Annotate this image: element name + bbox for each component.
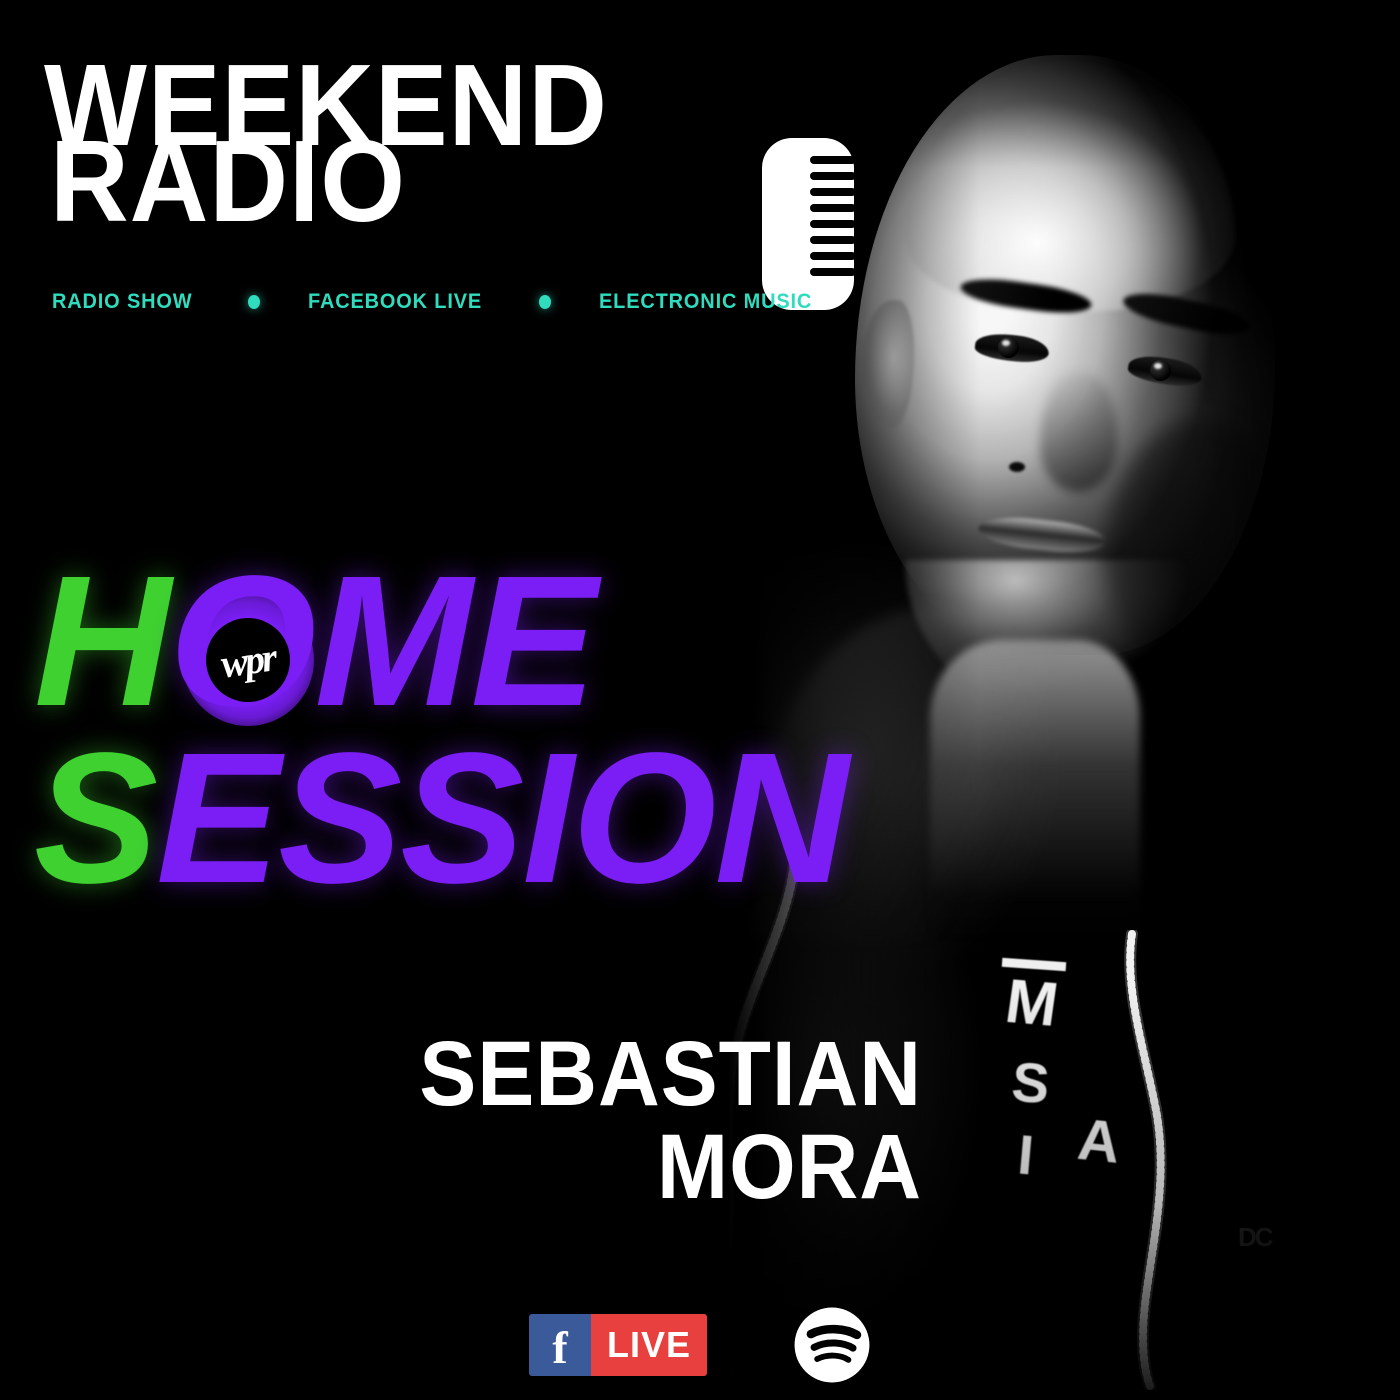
tagline-item-electronic-music: ELECTRONIC MUSIC bbox=[599, 290, 812, 314]
spotify-icon[interactable] bbox=[793, 1306, 871, 1384]
station-logo[interactable]: WEEKEND RADIO bbox=[44, 58, 844, 258]
dc-brand-mark: DC bbox=[1238, 1222, 1286, 1262]
headline-line-home: HOME bbox=[34, 556, 952, 727]
headline-line-session: SESSION bbox=[34, 733, 934, 904]
wpr-badge-inner: wpr bbox=[206, 618, 290, 702]
headline-block: HOME SESSION bbox=[34, 556, 934, 904]
tagline: RADIO SHOW FACEBOOK LIVE ELECTRONIC MUSI… bbox=[52, 290, 823, 314]
bottom-badges: f LIVE bbox=[0, 1306, 1400, 1384]
wpr-monogram-text: wpr bbox=[218, 633, 277, 687]
live-label-box[interactable]: LIVE bbox=[591, 1314, 707, 1376]
artist-last-name: MORA bbox=[65, 1123, 922, 1212]
facebook-icon[interactable]: f bbox=[529, 1314, 591, 1376]
tagline-dot-2 bbox=[539, 295, 551, 309]
cheek-shadow bbox=[1105, 420, 1295, 680]
headline-home-accent: H bbox=[34, 538, 169, 745]
shirt-letter-s: S bbox=[1009, 1049, 1051, 1117]
eye-highlight-right bbox=[1154, 363, 1162, 369]
poster-canvas: M S I A DC WEEKEND RADIO bbox=[0, 0, 1400, 1400]
headline-session-rest: ESSION bbox=[156, 715, 847, 922]
facebook-live-badge[interactable]: f LIVE bbox=[529, 1314, 707, 1376]
facebook-f-glyph: f bbox=[552, 1325, 567, 1371]
eye-highlight-left bbox=[1002, 340, 1010, 346]
wpr-logo-badge: wpr bbox=[182, 594, 314, 726]
tagline-item-radio-show: RADIO SHOW bbox=[52, 290, 192, 314]
nose-shadow bbox=[1040, 372, 1118, 492]
tagline-item-facebook-live: FACEBOOK LIVE bbox=[308, 290, 482, 314]
tagline-dot-1 bbox=[248, 295, 260, 309]
logo-radio-text: RADIO bbox=[50, 134, 406, 229]
microphone-icon bbox=[760, 136, 856, 312]
shirt-letter-m: M bbox=[1001, 966, 1061, 1041]
live-label: LIVE bbox=[607, 1324, 691, 1366]
artist-first-name: SEBASTIAN bbox=[65, 1030, 922, 1119]
headline-session-accent: S bbox=[34, 715, 156, 922]
nostril bbox=[1009, 462, 1025, 472]
artist-name: SEBASTIAN MORA bbox=[0, 1030, 960, 1212]
